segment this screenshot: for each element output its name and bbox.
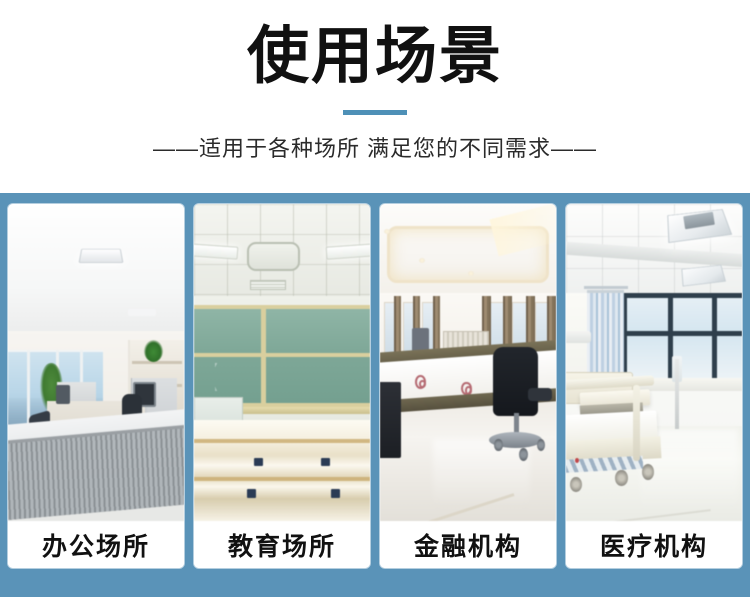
classroom-desk-fitting xyxy=(321,458,330,466)
classroom-chalkboard-divider xyxy=(261,305,266,406)
usage-scenarios-page: 使用场景 ——适用于各种场所 满足您的不同需求—— xyxy=(0,0,750,597)
hospital-bed-side-rail xyxy=(633,385,640,461)
hospital-window xyxy=(622,293,742,382)
bank-counter-emblem-icon xyxy=(415,375,426,389)
classroom-desks xyxy=(194,420,370,521)
title-accent-bar xyxy=(343,110,407,115)
office-panel-light-icon xyxy=(79,249,124,263)
bank-floor-reflection xyxy=(433,439,530,509)
classroom-air-conditioner xyxy=(247,242,300,271)
hospital-window-frame xyxy=(712,293,717,382)
classroom-chalk-writing xyxy=(215,363,247,392)
classroom-desk-edge xyxy=(194,439,370,443)
bank-cabinet xyxy=(380,382,401,458)
classroom-scene-photo xyxy=(194,204,370,521)
hospital-iv-pole xyxy=(675,359,679,429)
office-monitor xyxy=(56,385,70,404)
classroom-desk-fitting xyxy=(247,489,256,497)
office-panel-light-secondary-icon xyxy=(128,309,156,316)
bank-downlight-icon xyxy=(419,258,425,263)
scenario-card-finance[interactable]: 金融机构 xyxy=(380,204,556,568)
scenario-label-finance: 金融机构 xyxy=(380,521,556,568)
office-scene-photo xyxy=(8,204,184,521)
bank-downlight-icon xyxy=(468,271,474,276)
scenario-label-education: 教育场所 xyxy=(194,521,370,568)
office-shelf-row xyxy=(132,361,182,364)
office-window-mullion xyxy=(27,350,30,426)
scenario-label-medical: 医疗机构 xyxy=(566,521,742,568)
scenario-card-list: 办公场所 xyxy=(8,204,742,568)
hospital-wall-shelf xyxy=(566,331,591,344)
scenario-label-office: 办公场所 xyxy=(8,521,184,568)
page-title: 使用场景 xyxy=(0,22,750,92)
hospital-window-frame xyxy=(622,331,742,336)
classroom-ceiling-vent xyxy=(250,280,285,290)
hospital-privacy-curtain xyxy=(587,290,624,385)
classroom-desk-fitting xyxy=(254,458,263,466)
office-reception-counter xyxy=(8,409,184,521)
scenarios-band: 办公场所 xyxy=(0,193,750,597)
bank-chair-armrest xyxy=(528,388,553,401)
classroom-chalkboard-rail xyxy=(194,353,370,357)
bank-chair-caster xyxy=(519,448,528,461)
hospital-bed-caster xyxy=(570,477,582,493)
classroom-desk-edge xyxy=(194,477,370,481)
scenario-card-medical[interactable]: 医疗机构 xyxy=(566,204,742,568)
page-header: 使用场景 ——适用于各种场所 满足您的不同需求—— xyxy=(0,0,750,193)
classroom-desk-fitting xyxy=(331,489,340,497)
bank-office-chair xyxy=(493,347,539,417)
hospital-scene-photo xyxy=(566,204,742,521)
scenario-card-education[interactable]: 教育场所 xyxy=(194,204,370,568)
office-ceiling xyxy=(8,204,184,343)
page-subtitle: ——适用于各种场所 满足您的不同需求—— xyxy=(0,134,750,164)
hospital-window-frame xyxy=(622,293,742,298)
hospital-bed-caster xyxy=(615,470,627,486)
hospital-bed-caster xyxy=(642,464,654,480)
office-counter-louvers xyxy=(8,428,184,521)
bank-scene-photo xyxy=(380,204,556,521)
scenario-card-office[interactable]: 办公场所 xyxy=(8,204,184,568)
